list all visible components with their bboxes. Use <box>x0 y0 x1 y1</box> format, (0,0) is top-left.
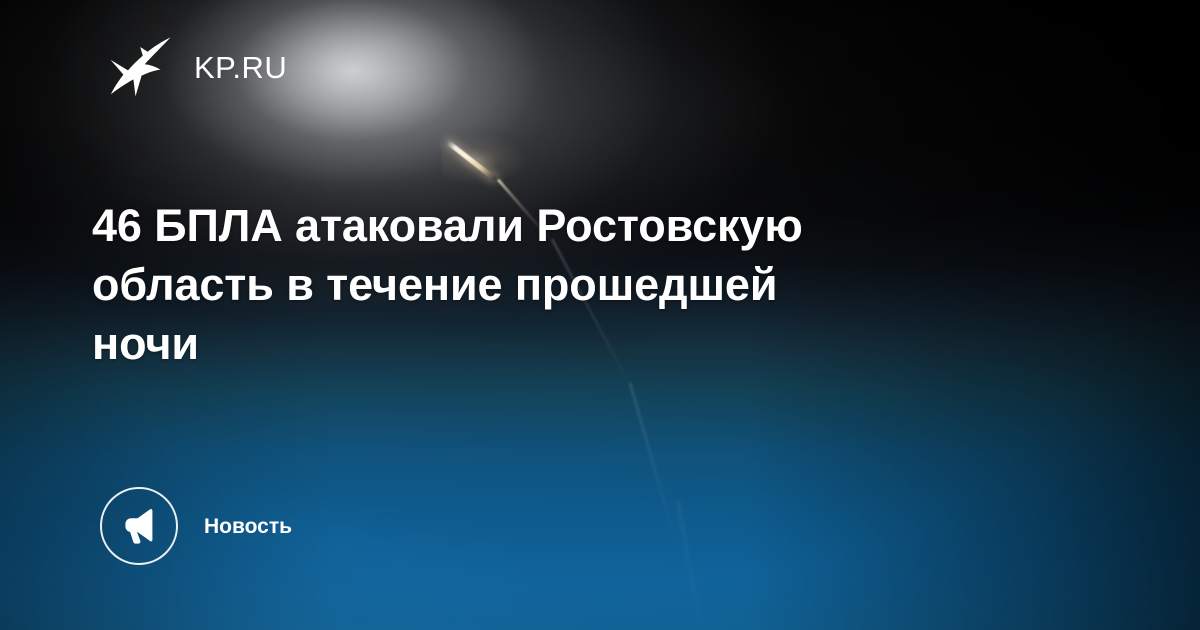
missile-trail-mid <box>629 383 681 557</box>
status-badge: Новость <box>100 487 292 565</box>
brand-row[interactable]: KP.RU <box>104 36 287 98</box>
brand-name: KP.RU <box>194 52 287 83</box>
missile-head-streak <box>445 140 497 182</box>
missile-glow-halo <box>442 132 537 204</box>
headline-line: ночи <box>92 314 1052 373</box>
missile-trail-lower <box>677 501 705 630</box>
megaphone-icon <box>119 506 159 546</box>
swallow-bird-logo-icon <box>104 36 172 98</box>
page-title: 46 БПЛА атаковали Ростовскую область в т… <box>92 196 1052 373</box>
status-badge-label: Новость <box>204 516 292 537</box>
headline-line: область в течение прошедшей <box>92 255 1052 314</box>
headline-line: 46 БПЛА атаковали Ростовскую <box>92 196 1052 255</box>
news-social-card: KP.RU 46 БПЛА атаковали Ростовскую облас… <box>0 0 1200 630</box>
badge-icon-circle <box>100 487 178 565</box>
